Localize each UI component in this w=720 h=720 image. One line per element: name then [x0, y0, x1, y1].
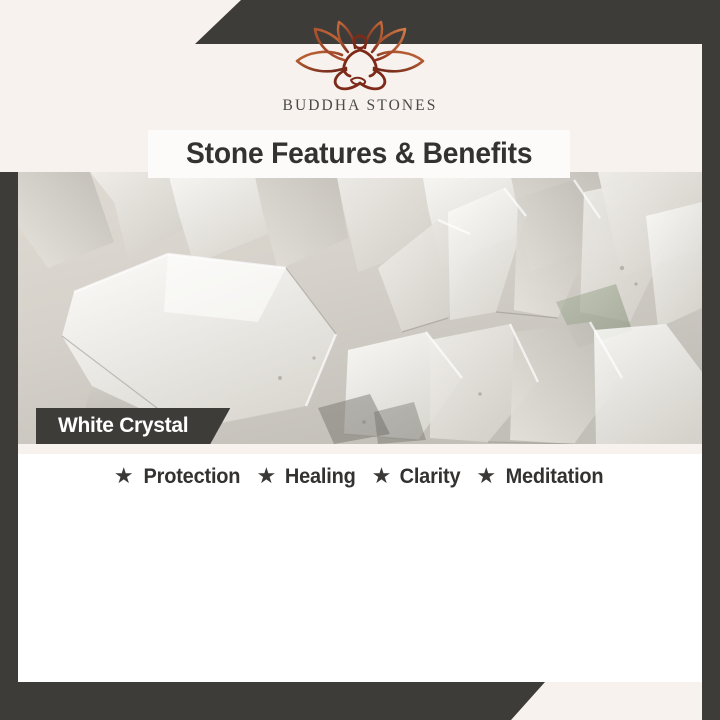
- frame-left-bar: [0, 172, 18, 685]
- page-title: Stone Features & Benefits: [186, 137, 532, 171]
- benefit-item-meditation: ★ Meditation: [476, 465, 606, 489]
- content-top-strip: [18, 444, 702, 454]
- benefit-item-healing: ★ Healing: [256, 465, 357, 489]
- star-icon: ★: [256, 465, 276, 487]
- benefit-label: Protection: [143, 465, 240, 489]
- star-icon: ★: [114, 465, 134, 487]
- brand-block: BUDDHA STONES: [0, 18, 720, 148]
- benefit-label: Healing: [285, 465, 356, 489]
- benefit-item-clarity: ★ Clarity: [372, 465, 463, 489]
- benefits-row: ★ Protection ★ Healing ★ Clarity ★ Medit…: [18, 465, 702, 489]
- benefit-label: Meditation: [506, 465, 604, 489]
- brand-name: BUDDHA STONES: [283, 97, 438, 115]
- benefit-label: Clarity: [400, 465, 461, 489]
- stone-name-badge: White Crystal: [36, 408, 230, 444]
- lotus-meditation-figure-icon: [284, 18, 436, 92]
- frame-bottom-bar: [0, 682, 545, 720]
- infographic-card: BUDDHA STONES Stone Features & Benefits: [0, 0, 720, 720]
- stone-name-label: White Crystal: [58, 414, 188, 438]
- star-icon: ★: [372, 465, 392, 487]
- star-icon: ★: [476, 465, 496, 487]
- benefit-item-protection: ★ Protection: [114, 465, 243, 489]
- crystal-photo: White Crystal: [18, 172, 702, 444]
- title-banner: Stone Features & Benefits: [148, 130, 570, 178]
